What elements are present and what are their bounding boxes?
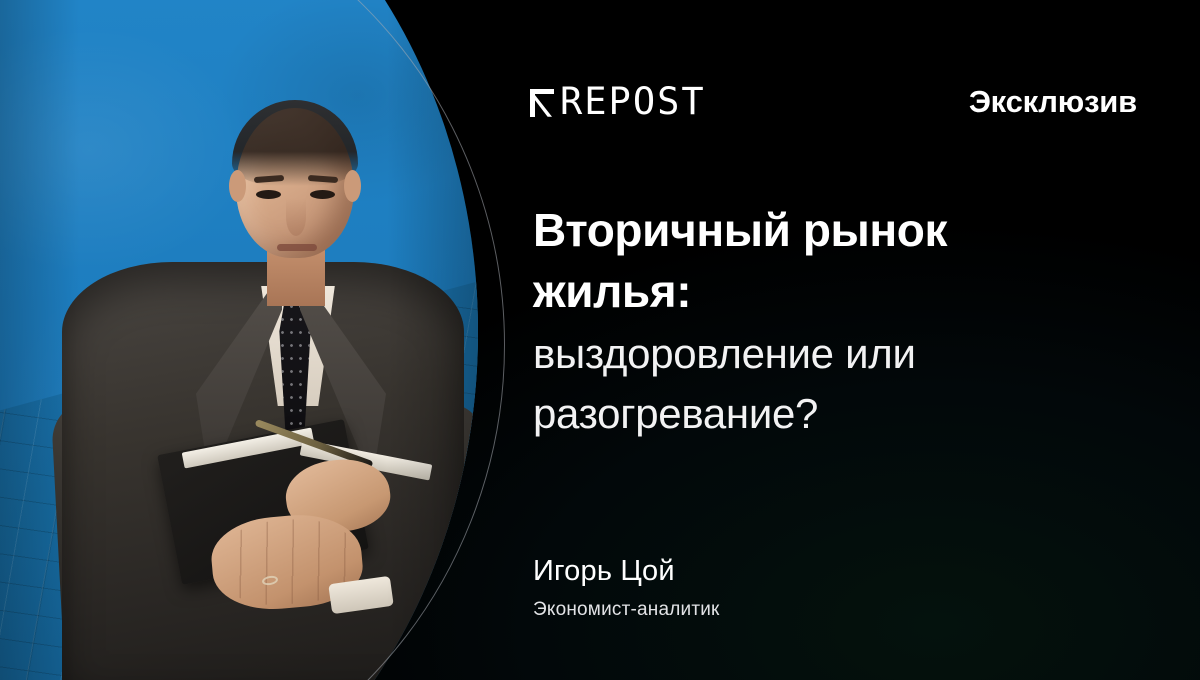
headline-line-3: выздоровление или bbox=[533, 326, 1093, 382]
exclusive-badge: Эксклюзив bbox=[969, 84, 1137, 120]
hair bbox=[232, 100, 358, 186]
eye-right bbox=[310, 190, 335, 199]
nose bbox=[286, 198, 306, 236]
portrait-subject bbox=[0, 0, 496, 680]
repost-logo[interactable]: REPOST bbox=[528, 83, 706, 120]
ear-left bbox=[229, 170, 246, 202]
author-name: Игорь Цой bbox=[533, 553, 720, 589]
eye-left bbox=[256, 190, 281, 199]
repost-logo-text: REPOST bbox=[560, 83, 706, 120]
mouth bbox=[277, 244, 317, 251]
headline-line-4: разогревание? bbox=[533, 386, 1093, 442]
headline-line-1: Вторичный рынок bbox=[533, 200, 1093, 261]
author-role: Экономист-аналитик bbox=[533, 599, 720, 621]
headline-block: Вторичный рынок жилья: выздоровление или… bbox=[533, 200, 1093, 442]
repost-angular-r-mark bbox=[528, 85, 558, 119]
news-cover-card: REPOST Эксклюзив Вторичный рынок жилья: … bbox=[0, 0, 1200, 680]
byline-block: Игорь Цой Экономист-аналитик bbox=[533, 553, 720, 621]
portrait-photo-pane bbox=[0, 0, 496, 680]
headline-line-2: жилья: bbox=[533, 261, 1093, 322]
ear-right bbox=[344, 170, 361, 202]
